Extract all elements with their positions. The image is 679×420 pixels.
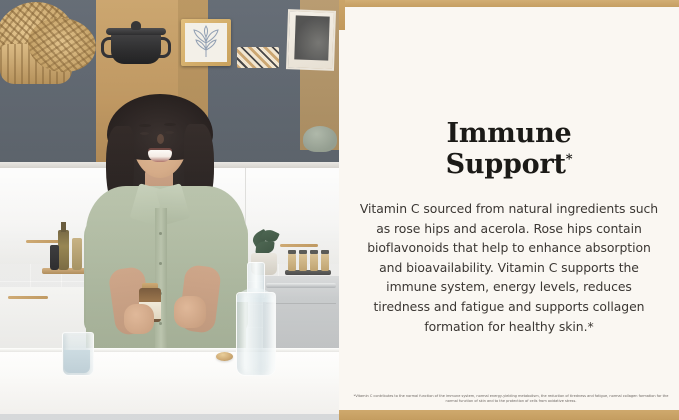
shirt-placket — [155, 208, 167, 350]
gold-bottle-cap — [216, 352, 233, 361]
counter-edge — [0, 348, 339, 352]
eyebrow-right — [164, 123, 176, 126]
cooking-pot-icon — [111, 31, 161, 64]
botanical-leaf-icon — [185, 23, 227, 62]
eye-right — [165, 131, 174, 134]
spice-jar-2 — [299, 254, 307, 271]
spice-jar-4-lid — [321, 250, 329, 254]
oil-bottle-1-neck — [61, 222, 66, 232]
spice-jar-3 — [310, 254, 318, 271]
green-vase — [303, 126, 337, 152]
glass-water-level — [64, 350, 90, 373]
gold-rule-top — [339, 0, 679, 7]
oil-bottle-3 — [50, 245, 59, 270]
picture-mat — [185, 23, 227, 62]
copy-panel: Immune Support* Vitamin C sourced from n… — [339, 0, 679, 420]
spice-jar-3-lid — [310, 250, 318, 254]
shirt-button-2 — [159, 262, 162, 265]
pot-knob — [131, 21, 141, 30]
spice-jar-1-lid — [288, 250, 296, 254]
hand-left — [124, 304, 154, 334]
eye-left — [140, 132, 149, 135]
hand-right — [174, 296, 206, 328]
legal-footnote: *Vitamin C contributes to the normal fun… — [349, 394, 673, 403]
gold-rule-left — [339, 0, 345, 30]
spice-jar-4 — [321, 254, 329, 271]
shirt-button-1 — [159, 232, 162, 235]
kitchen-counter — [0, 348, 339, 414]
spice-jar-1 — [288, 254, 296, 271]
canvas-artwork — [294, 15, 330, 60]
product-banner: Immune Support* Vitamin C sourced from n… — [0, 0, 679, 420]
body-copy: Vitamin C sourced from natural ingredien… — [356, 199, 662, 336]
oil-bottle-1 — [58, 230, 69, 270]
nose — [157, 134, 164, 144]
shirt-button-4 — [159, 322, 162, 325]
dishwasher-seam — [266, 303, 336, 304]
cabinet-pull-3 — [280, 244, 318, 247]
lifestyle-photo — [0, 0, 339, 420]
eyebrow-left — [139, 124, 151, 127]
headline-asterisk: * — [566, 152, 573, 167]
patterned-box — [237, 47, 279, 68]
headline-line-2: Support — [446, 149, 566, 180]
headline-line-1: Immune — [446, 118, 571, 149]
glass-water-bottle — [236, 292, 276, 376]
spice-jar-2-lid — [299, 250, 307, 254]
dishwasher-handle — [266, 283, 336, 288]
lower-cabinet-pull — [8, 296, 48, 299]
oil-bottle-2 — [72, 238, 82, 270]
page-title: Immune Support* — [359, 118, 659, 180]
gold-rule-bottom — [339, 410, 679, 420]
